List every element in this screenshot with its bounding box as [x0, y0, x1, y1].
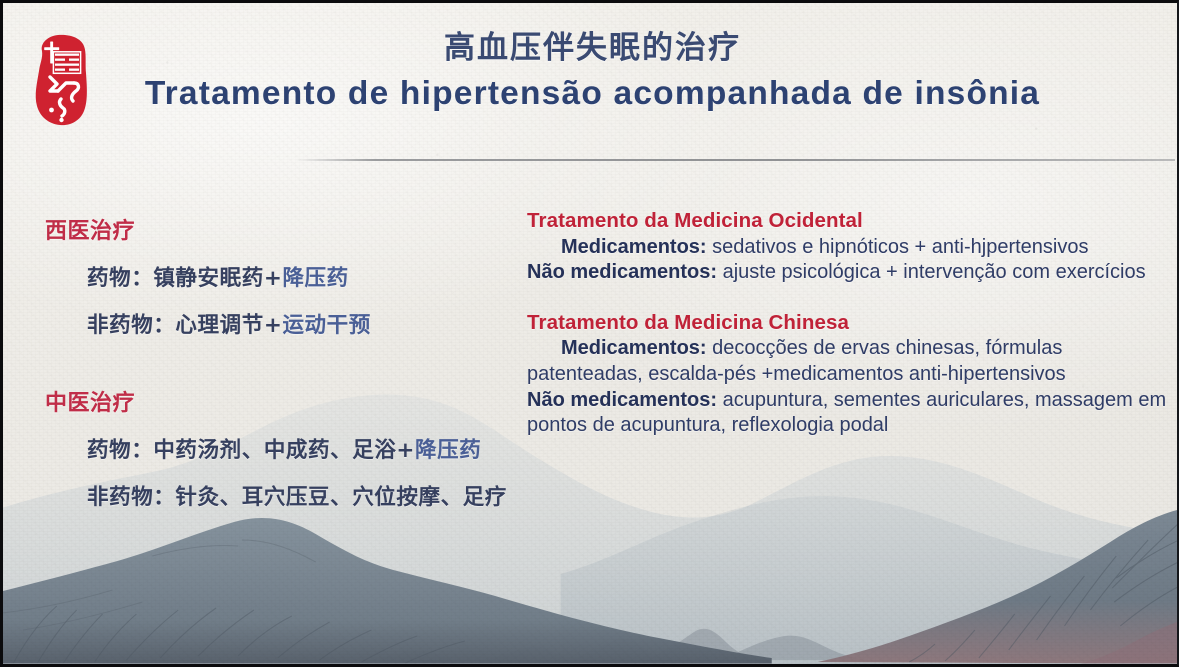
cn-line-highlight: 降压药: [415, 438, 481, 463]
cn-line-non-medication: 非药物：心理调节+运动干预: [87, 308, 515, 339]
pt-section-chinese-medicine: Tratamento da Medicina Chinesa Medicamen…: [527, 310, 1172, 439]
pt-item-label: Medicamentos:: [561, 337, 707, 359]
pt-item-label: Não medicamentos:: [527, 389, 717, 411]
cn-line-medication: 药物：镇静安眠药+降压药: [87, 261, 515, 292]
pt-item-label: Medicamentos:: [561, 236, 707, 258]
right-column-portuguese: Tratamento da Medicina Ocidental Medicam…: [527, 208, 1172, 439]
cn-line-value: 镇静安眠药: [153, 266, 264, 291]
cn-section-western-medicine: 西医治疗 药物：镇静安眠药+降压药 非药物：心理调节+运动干预: [45, 213, 515, 339]
cn-line-label: 非药物：: [87, 485, 175, 510]
pt-section-heading: Tratamento da Medicina Chinesa: [527, 310, 1172, 337]
cn-line-value: 针灸、耳穴压豆、穴位按摩、足疗: [175, 485, 507, 510]
pt-section-heading: Tratamento da Medicina Ocidental: [527, 208, 1172, 235]
pt-section-western-medicine: Tratamento da Medicina Ocidental Medicam…: [527, 208, 1172, 286]
cn-line-highlight: 降压药: [282, 266, 348, 291]
page-title-portuguese: Tratamento de hipertensão acompanhada de…: [3, 74, 1179, 114]
pt-item-text: sedativos e hipnóticos + anti-hjpertensi…: [707, 236, 1089, 258]
cn-line-value: 中药汤剂、中成药、足浴: [153, 438, 396, 463]
pt-item-medicamentos: Medicamentos: sedativos e hipnóticos + a…: [561, 235, 1172, 261]
slide-canvas: 高血压伴失眠的治疗 Tratamento de hipertensão acom…: [0, 0, 1179, 667]
cn-line-label: 药物：: [87, 438, 153, 463]
pt-item-nao-medicamentos: Não medicamentos: ajuste psicológica + i…: [527, 260, 1172, 286]
pt-item-nao-medicamentos: Não medicamentos: acupuntura, sementes a…: [527, 388, 1172, 439]
cn-line-plus: +: [264, 266, 283, 291]
left-column-chinese: 西医治疗 药物：镇静安眠药+降压药 非药物：心理调节+运动干预 中医治疗 药物：…: [45, 213, 515, 511]
pt-item-label: Não medicamentos:: [527, 261, 717, 283]
slide-header: 高血压伴失眠的治疗 Tratamento de hipertensão acom…: [3, 29, 1179, 114]
pt-section-body: Medicamentos: sedativos e hipnóticos + a…: [561, 235, 1172, 286]
pt-item-medicamentos: Medicamentos: decocções de ervas chinesa…: [527, 336, 1172, 387]
cn-line-value: 心理调节: [175, 313, 263, 338]
page-title-chinese: 高血压伴失眠的治疗: [3, 29, 1179, 68]
cn-line-plus: +: [396, 438, 415, 463]
header-divider: [295, 159, 1175, 161]
cn-line-non-medication: 非药物：针灸、耳穴压豆、穴位按摩、足疗: [87, 480, 515, 511]
cn-line-label: 药物：: [87, 266, 153, 291]
cn-line-plus: +: [264, 313, 283, 338]
pt-item-text: ajuste psicológica + intervenção com exe…: [717, 261, 1146, 283]
cn-line-highlight: 运动干预: [282, 313, 370, 338]
cn-line-label: 非药物：: [87, 313, 175, 338]
cn-section-chinese-medicine: 中医治疗 药物：中药汤剂、中成药、足浴+降压药 非药物：针灸、耳穴压豆、穴位按摩…: [45, 385, 515, 511]
cn-line-medication: 药物：中药汤剂、中成药、足浴+降压药: [87, 433, 515, 464]
pt-section-body: Medicamentos: decocções de ervas chinesa…: [561, 336, 1172, 438]
cn-section-heading: 中医治疗: [45, 385, 515, 417]
cn-section-heading: 西医治疗: [45, 213, 515, 245]
